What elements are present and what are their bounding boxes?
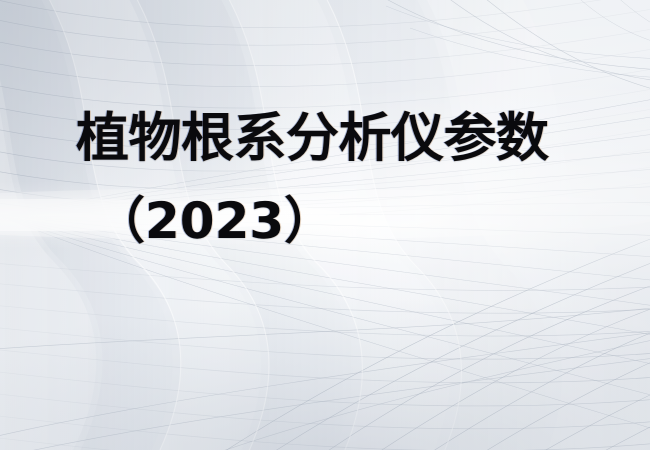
title-slide: 植物根系分析仪参数 （2023） xyxy=(0,0,650,450)
mesh-diagonal-lines xyxy=(196,220,650,450)
mesh-latitude-lines-lower xyxy=(0,262,650,450)
slide-title-year: （2023） xyxy=(95,196,650,246)
slide-title-block: 植物根系分析仪参数 （2023） xyxy=(0,112,650,246)
mesh-top-right-arcs xyxy=(386,0,650,80)
slide-title-primary: 植物根系分析仪参数 xyxy=(76,112,650,165)
